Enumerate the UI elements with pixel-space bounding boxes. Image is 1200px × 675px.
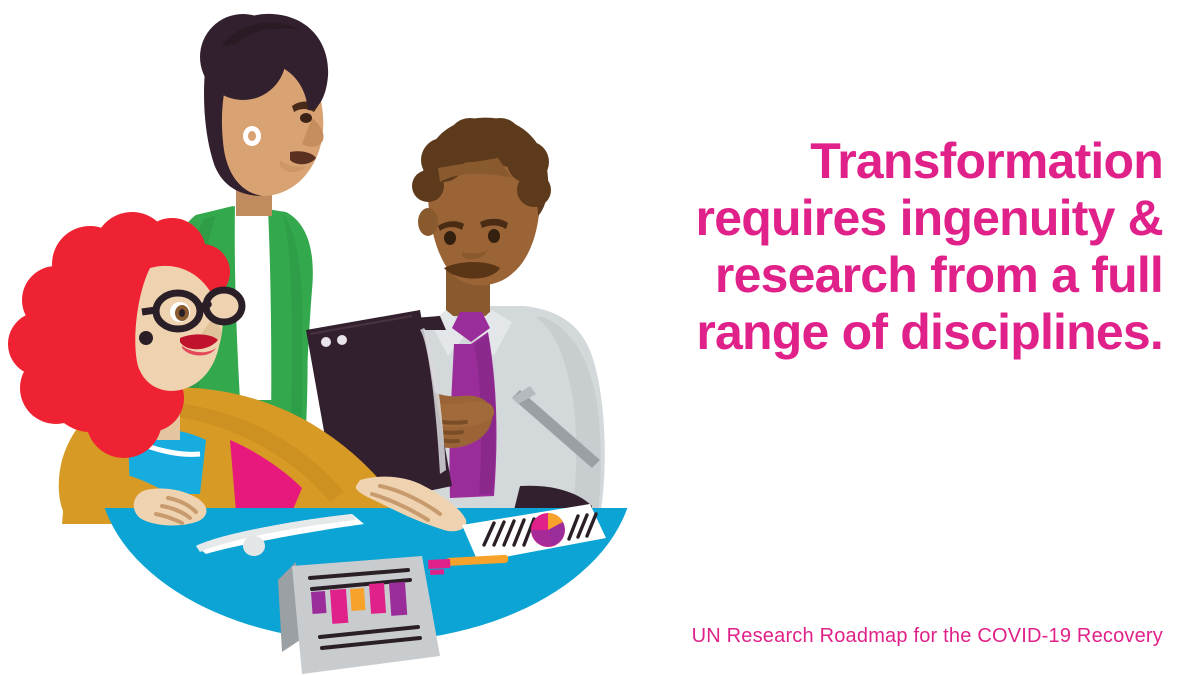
headline-emphasis-research: research — [715, 247, 917, 303]
headline-line-3-tail: from a full — [917, 247, 1163, 303]
headline-line-4-text: range of disciplines. — [696, 304, 1163, 360]
headline-line-3: research from a full — [633, 247, 1163, 304]
headline-line-2-lead: requires — [696, 190, 900, 246]
bar-chart-tablet — [278, 556, 440, 674]
page-title: Transformation requires ingenuity & rese… — [633, 133, 1163, 361]
headline-line-2: requires ingenuity & — [633, 190, 1163, 247]
headline-line-2-tail: & — [1115, 190, 1163, 246]
footer-caption: UN Research Roadmap for the COVID-19 Rec… — [692, 625, 1163, 648]
headline-line-4: range of disciplines. — [633, 304, 1163, 361]
headline-line-1-text: Transformation — [810, 133, 1163, 189]
poster-canvas: Transformation requires ingenuity & rese… — [0, 0, 1200, 675]
headline-line-1: Transformation — [633, 133, 1163, 190]
illustration-artwork — [0, 0, 660, 675]
pie-chart — [531, 513, 565, 547]
headline-emphasis-ingenuity: ingenuity — [900, 190, 1115, 246]
